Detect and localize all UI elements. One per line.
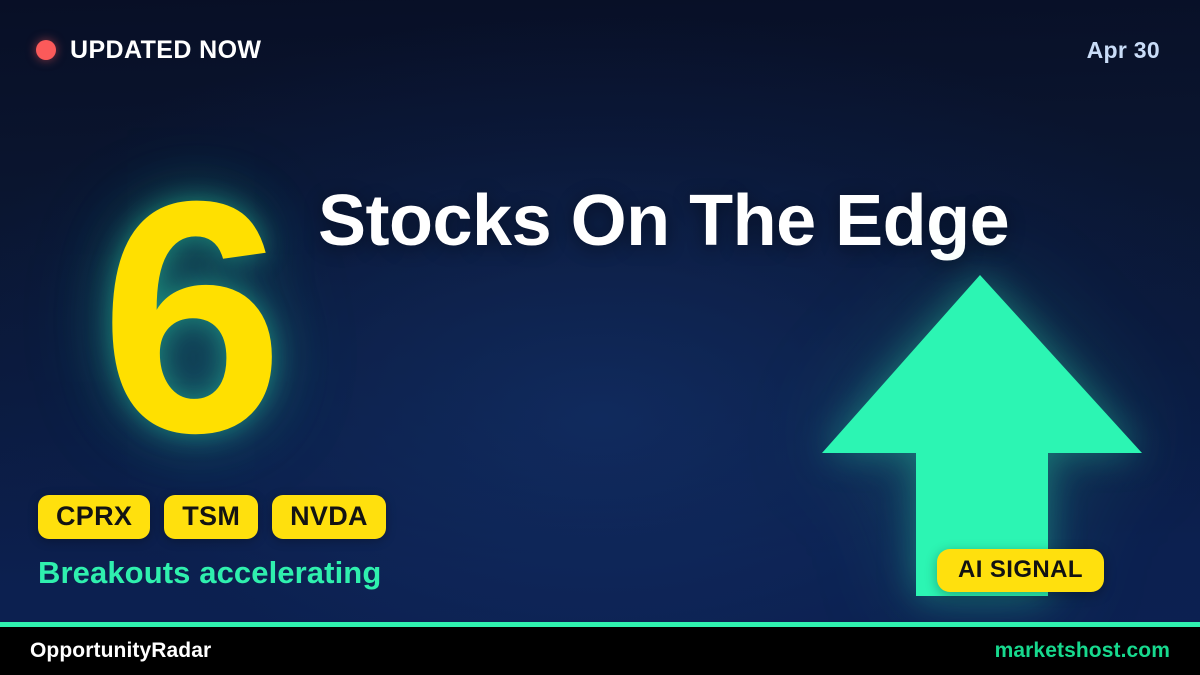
- ai-signal-badge: AI SIGNAL: [937, 549, 1104, 592]
- ticker-badge[interactable]: TSM: [164, 495, 258, 539]
- ticker-badge[interactable]: NVDA: [272, 495, 386, 539]
- footer-bar: OpportunityRadar marketshost.com: [0, 627, 1200, 675]
- ticker-badge[interactable]: CPRX: [38, 495, 150, 539]
- website-url[interactable]: marketshost.com: [995, 639, 1170, 663]
- promo-card: UPDATED NOW Apr 30 6 Stocks On The Edge …: [0, 0, 1200, 675]
- update-status: UPDATED NOW: [36, 36, 261, 65]
- ticker-badge-list: CPRX TSM NVDA: [38, 495, 386, 539]
- page-title: Stocks On The Edge: [318, 180, 1009, 262]
- brand-name: OpportunityRadar: [30, 639, 211, 663]
- subtitle-text: Breakouts accelerating: [38, 555, 381, 591]
- live-dot-icon: [36, 40, 56, 60]
- date-label: Apr 30: [1087, 37, 1160, 64]
- stock-count-number: 6: [74, 152, 304, 482]
- update-status-label: UPDATED NOW: [70, 36, 261, 65]
- top-bar: UPDATED NOW Apr 30: [0, 0, 1200, 100]
